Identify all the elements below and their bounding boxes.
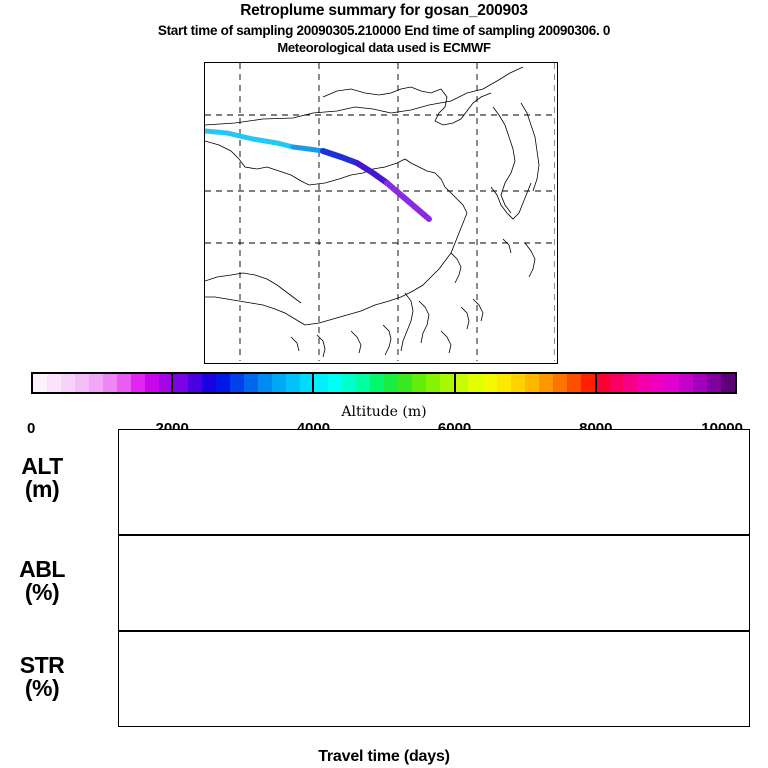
colorbar-swatch-47 <box>693 374 707 392</box>
colorbar-swatch-40 <box>595 374 609 392</box>
colorbar-swatch-4 <box>89 374 103 392</box>
colorbar-swatch-45 <box>665 374 679 392</box>
colorbar-swatch-0 <box>33 374 47 392</box>
colorbar-swatch-14 <box>230 374 244 392</box>
xaxis-tick-labels <box>118 731 750 749</box>
colorbar-swatch-48 <box>707 374 721 392</box>
map-canvas <box>205 63 555 361</box>
colorbar-swatch-44 <box>651 374 665 392</box>
trajectory-line <box>205 131 429 219</box>
colorbar-swatch-22 <box>342 374 356 392</box>
colorbar-swatch-26 <box>398 374 412 392</box>
header-block: Retroplume summary for gosan_200903 Star… <box>0 0 768 55</box>
str-ytick-labels <box>62 631 110 727</box>
colorbar-swatch-28 <box>426 374 440 392</box>
colorbar-tick-0: 0 <box>27 420 35 437</box>
colorbar-swatch-8 <box>145 374 159 392</box>
colorbar-swatch-34 <box>511 374 525 392</box>
met-data-line: Meteorological data used is ECMWF <box>0 40 768 55</box>
colorbar-swatch-25 <box>384 374 398 392</box>
colorbar-swatch-37 <box>553 374 567 392</box>
colorbar-divider-3 <box>595 372 597 394</box>
colorbar-swatch-30 <box>454 374 468 392</box>
colorbar-swatch-15 <box>244 374 258 392</box>
colorbar-swatch-1 <box>47 374 61 392</box>
colorbar-swatch-43 <box>637 374 651 392</box>
colorbar-axis-label: Altitude (m) <box>0 404 768 420</box>
altitude-colorbar <box>31 372 737 394</box>
colorbar-swatch-49 <box>721 374 735 392</box>
colorbar-swatch-16 <box>258 374 272 392</box>
colorbar-swatch-32 <box>483 374 497 392</box>
coastline-layer <box>205 67 539 357</box>
colorbar-swatch-13 <box>216 374 230 392</box>
colorbar-swatch-39 <box>581 374 595 392</box>
colorbar-swatch-17 <box>272 374 286 392</box>
abl-plot-panel[interactable] <box>118 535 750 631</box>
str-plot-canvas <box>119 632 749 726</box>
str-plot-panel[interactable] <box>118 631 750 727</box>
abl-ytick-labels <box>62 535 110 631</box>
colorbar-swatch-42 <box>623 374 637 392</box>
colorbar-divider-1 <box>312 372 314 394</box>
colorbar-swatch-3 <box>75 374 89 392</box>
colorbar-swatch-36 <box>539 374 553 392</box>
colorbar-swatch-18 <box>286 374 300 392</box>
colorbar-swatch-20 <box>314 374 328 392</box>
retroplume-map[interactable] <box>204 62 558 364</box>
colorbar-divider-2 <box>454 372 456 394</box>
colorbar-swatch-31 <box>468 374 482 392</box>
xaxis-title: Travel time (days) <box>0 748 768 766</box>
colorbar-swatch-21 <box>328 374 342 392</box>
colorbar-swatch-12 <box>202 374 216 392</box>
colorbar-gradient <box>31 372 737 394</box>
colorbar-swatch-10 <box>173 374 187 392</box>
colorbar-swatch-29 <box>440 374 454 392</box>
alt-plot-panel[interactable] <box>118 429 750 535</box>
colorbar-swatch-41 <box>609 374 623 392</box>
abl-plot-canvas <box>119 536 749 630</box>
map-gridlines <box>205 63 555 361</box>
colorbar-divider-0 <box>171 372 173 394</box>
alt-ytick-labels <box>62 429 110 535</box>
page-title: Retroplume summary for gosan_200903 <box>0 2 768 20</box>
colorbar-swatch-11 <box>188 374 202 392</box>
colorbar-swatch-23 <box>356 374 370 392</box>
colorbar-swatch-46 <box>679 374 693 392</box>
colorbar-swatch-2 <box>61 374 75 392</box>
sampling-time-line: Start time of sampling 20090305.210000 E… <box>0 23 768 38</box>
colorbar-swatch-27 <box>412 374 426 392</box>
colorbar-swatch-38 <box>567 374 581 392</box>
colorbar-swatch-24 <box>370 374 384 392</box>
alt-plot-canvas <box>119 430 749 534</box>
colorbar-swatch-6 <box>117 374 131 392</box>
colorbar-swatch-7 <box>131 374 145 392</box>
colorbar-swatch-5 <box>103 374 117 392</box>
colorbar-swatch-33 <box>497 374 511 392</box>
colorbar-swatch-35 <box>525 374 539 392</box>
